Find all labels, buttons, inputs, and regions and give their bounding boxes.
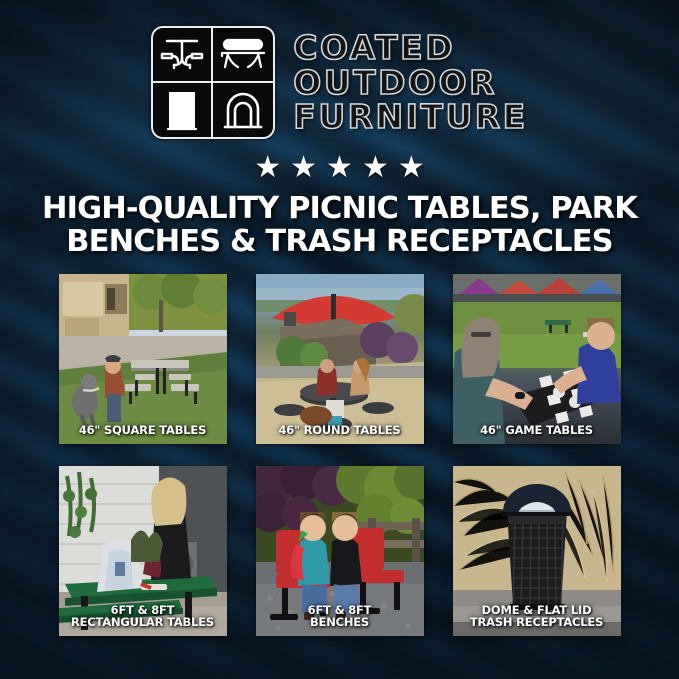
product-label: 46" GAME TABLES	[453, 424, 621, 437]
star-icon-3: ★	[326, 153, 353, 183]
product-label: DOME & FLAT LID TRASH RECEPTACLES	[453, 604, 621, 630]
star-icon-1: ★	[254, 153, 281, 183]
bike-rack-icon	[213, 83, 273, 138]
page-title: HIGH-QUALITY PICNIC TABLES, PARK BENCHES…	[0, 193, 679, 258]
headline-line-1: HIGH-QUALITY PICNIC TABLES, PARK	[42, 191, 637, 226]
wordmark-line-1: COATED	[293, 31, 527, 65]
product-card-rectangular-tables[interactable]: 6FT & 8FT RECTANGULAR TABLES	[59, 466, 227, 636]
product-label: 46" ROUND TABLES	[256, 424, 424, 437]
trash-receptacle-icon	[153, 83, 213, 138]
star-icon-2: ★	[290, 153, 317, 183]
product-photo-square-tables	[59, 274, 227, 444]
poster-content: COATED OUTDOOR FURNITURE ★ ★ ★ ★ ★ HIGH-…	[0, 0, 679, 679]
wordmark-line-3: FURNITURE	[293, 100, 527, 134]
product-card-benches[interactable]: 6FT & 8FT BENCHES	[256, 466, 424, 636]
park-bench-icon	[213, 28, 273, 83]
brand-logo: COATED OUTDOOR FURNITURE	[0, 0, 679, 139]
logo-icon-grid	[151, 26, 275, 139]
picnic-table-icon	[153, 28, 213, 83]
product-photo-round-tables	[256, 274, 424, 444]
product-photo-game-tables	[453, 274, 621, 444]
product-label: 6FT & 8FT RECTANGULAR TABLES	[59, 604, 227, 630]
brand-wordmark: COATED OUTDOOR FURNITURE	[293, 31, 527, 134]
wordmark-line-2: OUTDOOR	[293, 66, 527, 100]
product-grid: 46" SQUARE TABLES	[0, 274, 679, 636]
star-icon-4: ★	[362, 153, 389, 183]
product-card-round-tables[interactable]: 46" ROUND TABLES	[256, 274, 424, 444]
product-label: 46" SQUARE TABLES	[59, 424, 227, 437]
star-rating: ★ ★ ★ ★ ★	[0, 153, 679, 183]
product-card-trash-receptacles[interactable]: DOME & FLAT LID TRASH RECEPTACLES	[453, 466, 621, 636]
product-card-square-tables[interactable]: 46" SQUARE TABLES	[59, 274, 227, 444]
product-card-game-tables[interactable]: 46" GAME TABLES	[453, 274, 621, 444]
product-label: 6FT & 8FT BENCHES	[256, 604, 424, 630]
headline-line-2: BENCHES & TRASH RECEPTACLES	[28, 226, 651, 259]
star-icon-5: ★	[398, 153, 425, 183]
